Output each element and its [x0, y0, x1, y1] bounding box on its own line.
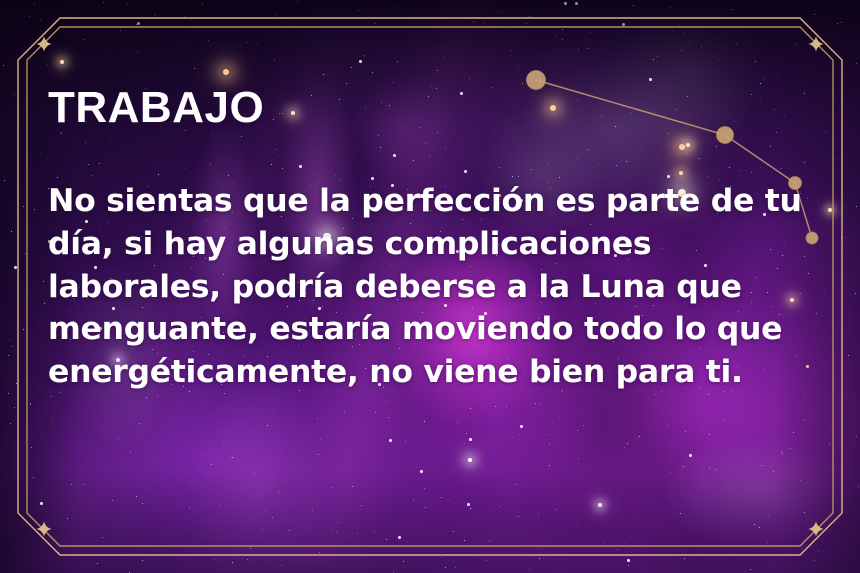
corner-sparkle-icon: [37, 37, 52, 52]
horoscope-card: TRABAJO No sientas que la perfección es …: [0, 0, 860, 573]
glow-star: [598, 503, 602, 507]
corner-sparkle-icon: [37, 522, 52, 537]
corner-sparkle-icon: [809, 522, 824, 537]
star-dot-cluster: [0, 0, 1, 1]
glow-star: [828, 208, 832, 212]
corner-sparkle-icon: [809, 37, 824, 52]
horoscope-body-text: No sientas que la perfección es parte de…: [48, 180, 804, 394]
glow-star: [60, 60, 64, 64]
glow-star: [223, 69, 230, 76]
page-title: TRABAJO: [48, 86, 818, 130]
card-content: TRABAJO No sientas que la perfección es …: [48, 86, 818, 394]
glow-star: [468, 458, 473, 463]
